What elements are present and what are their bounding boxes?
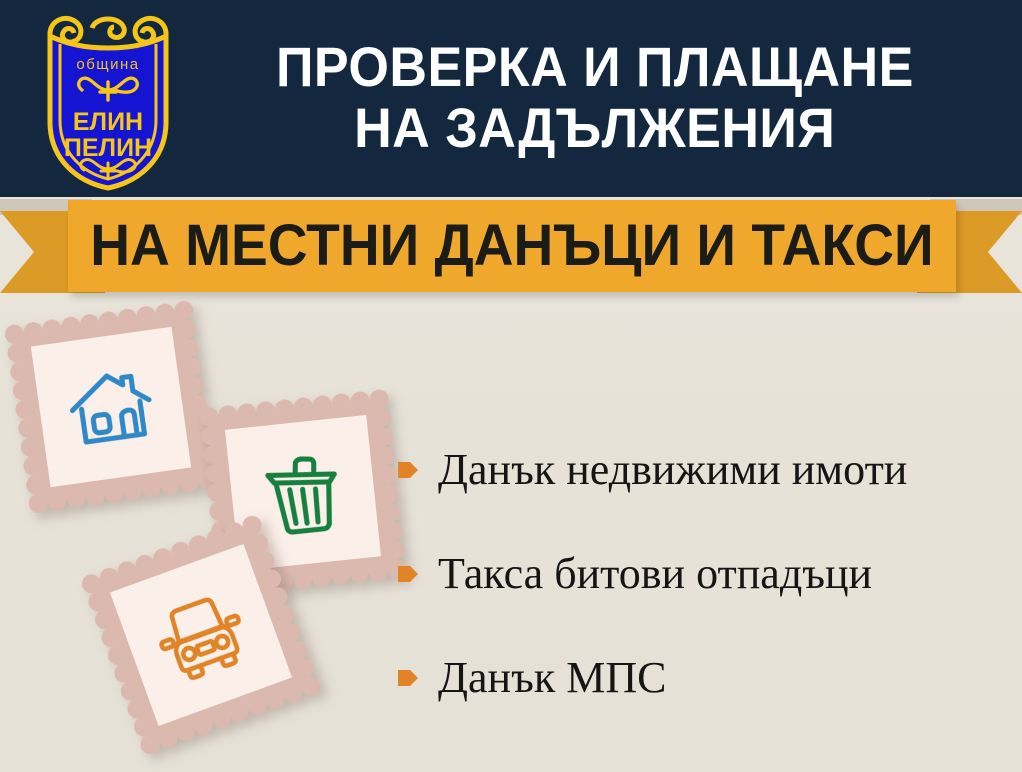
stamp-card-property-tax [4,300,219,515]
car-icon [142,576,260,694]
arrow-bullet-icon [396,459,420,481]
stamp-inner-face [31,327,191,487]
svg-text:ЕЛИН: ЕЛИН [73,108,143,136]
svg-text:ПЕЛИН: ПЕЛИН [64,134,152,162]
list-item-label: Данък недвижими имоти [438,448,907,492]
page-title: ПРОВЕРКА И ПЛАЩАНЕ НА ЗАДЪЛЖЕНИЯ [190,10,1000,185]
page-title-line-2: НА ЗАДЪЛЖЕНИЯ [354,99,835,158]
svg-text:община: община [76,56,139,73]
list-item-label: Данък МПС [438,656,666,700]
house-icon [59,355,163,459]
list-item: Данък МПС [396,626,1016,730]
arrow-bullet-icon [396,667,420,689]
municipality-crest-logo: община ЕЛИН ПЕЛИН [26,4,190,194]
subtitle-ribbon: НА МЕСТНИ ДАНЪЦИ И ТАКСИ [0,197,1022,297]
poster-canvas: община ЕЛИН ПЕЛИН ПРОВЕРКА И ПЛАЩАНЕ НА … [0,0,1022,772]
list-item-label: Такса битови отпадъци [438,552,872,596]
trash-can-icon [252,442,353,543]
ribbon-label: НА МЕСТНИ ДАНЪЦИ И ТАКСИ [90,217,933,275]
list-item: Данък недвижими имоти [396,418,1016,522]
header-bar: община ЕЛИН ПЕЛИН ПРОВЕРКА И ПЛАЩАНЕ НА … [0,0,1022,197]
page-title-line-1: ПРОВЕРКА И ПЛАЩАНЕ [276,38,914,97]
obligation-types-list: Данък недвижими имоти Такса битови отпад… [396,418,1016,730]
list-item: Такса битови отпадъци [396,522,1016,626]
arrow-bullet-icon [396,563,420,585]
ribbon-face: НА МЕСТНИ ДАНЪЦИ И ТАКСИ [68,200,956,292]
